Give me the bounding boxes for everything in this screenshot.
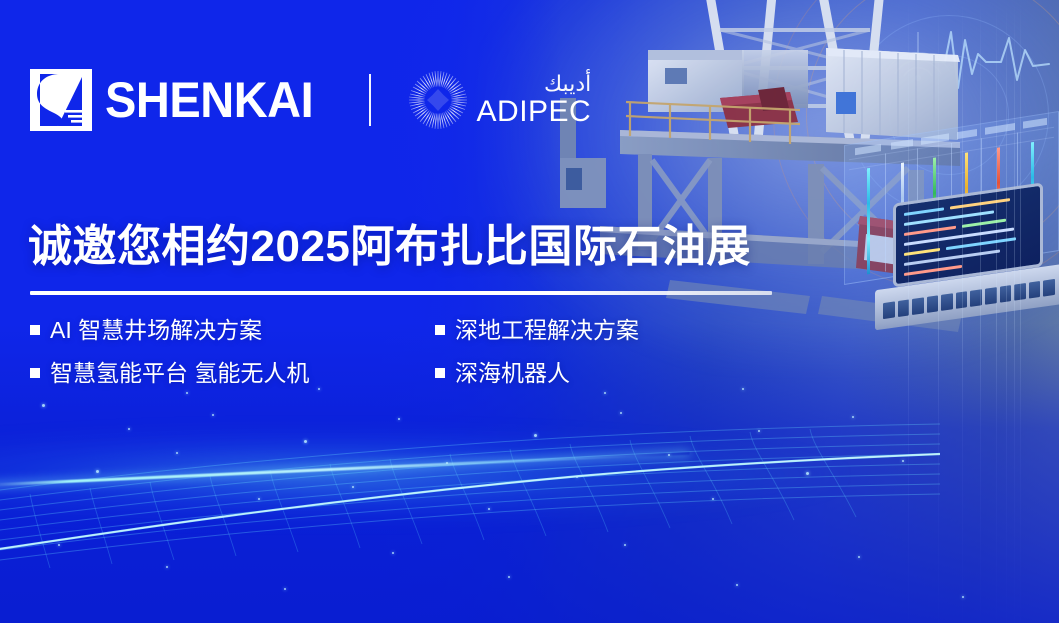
headline: 诚邀您相约2025阿布扎比国际石油展 xyxy=(28,222,751,273)
feature-label: 智慧氢能平台 氢能无人机 xyxy=(50,359,309,388)
feature-label: AI 智慧井场解决方案 xyxy=(50,316,262,345)
feature-row: 智慧氢能平台 氢能无人机 深海机器人 xyxy=(30,359,790,388)
bullet-square-icon xyxy=(30,325,40,335)
feature-item: 智慧氢能平台 氢能无人机 xyxy=(30,359,435,388)
logo-divider xyxy=(369,74,371,126)
feature-list: AI 智慧井场解决方案 深地工程解决方案 智慧氢能平台 氢能无人机 深海机器人 xyxy=(30,316,790,402)
adipec-english: ADIPEC xyxy=(477,97,592,127)
feature-label: 深地工程解决方案 xyxy=(455,316,639,345)
feature-label: 深海机器人 xyxy=(455,359,570,388)
bullet-square-icon xyxy=(435,325,445,335)
adipec-text: أديبك ADIPEC xyxy=(477,73,592,127)
shenkai-wordmark: SHENKAI xyxy=(105,75,313,125)
headline-divider xyxy=(30,291,772,295)
feature-item: AI 智慧井场解决方案 xyxy=(30,316,435,345)
feature-row: AI 智慧井场解决方案 深地工程解决方案 xyxy=(30,316,790,345)
promo-banner: SHENKAI xyxy=(0,0,1059,623)
feature-item: 深海机器人 xyxy=(435,359,570,388)
logo-lockup: SHENKAI xyxy=(30,62,591,138)
banner-content: SHENKAI xyxy=(0,0,1059,623)
bullet-square-icon xyxy=(435,368,445,378)
shenkai-logo-mark xyxy=(30,69,92,131)
adipec-arabic: أديبك xyxy=(477,73,592,95)
feature-item: 深地工程解决方案 xyxy=(435,316,639,345)
adipec-logo: أديبك ADIPEC xyxy=(407,69,592,131)
bullet-square-icon xyxy=(30,368,40,378)
adipec-sunburst-icon xyxy=(407,69,469,131)
